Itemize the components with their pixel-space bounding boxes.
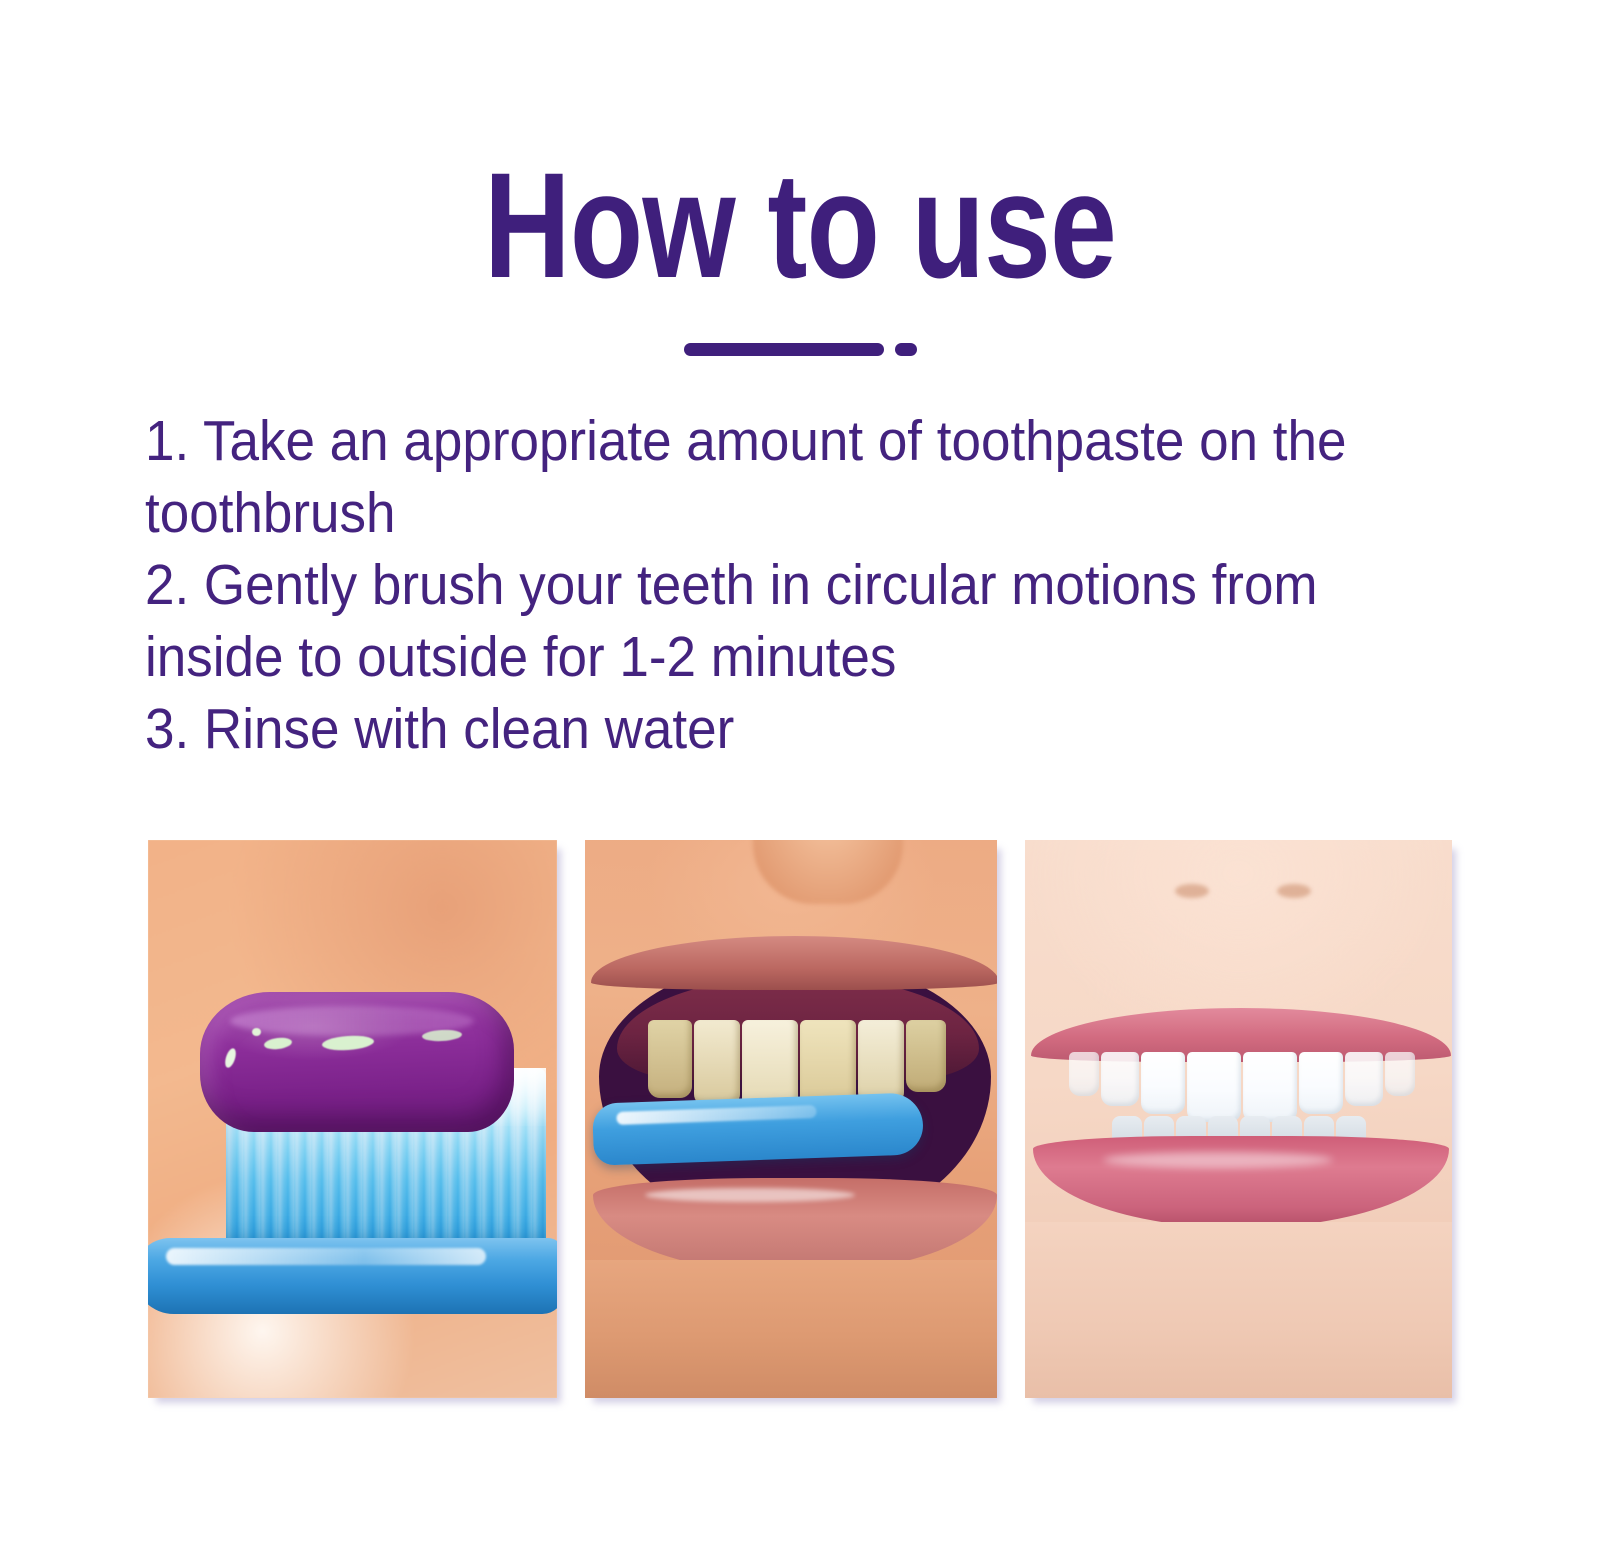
- chin: [1025, 1222, 1452, 1398]
- chin: [585, 1260, 996, 1398]
- lower-lip: [1033, 1136, 1449, 1228]
- white-smile-result-photo: [1025, 840, 1452, 1398]
- page-title: How to use: [160, 150, 1440, 300]
- tooth: [1069, 1052, 1099, 1096]
- brushing-stained-teeth-photo: [585, 840, 996, 1398]
- toothbrush-head: [148, 1238, 557, 1314]
- nostril: [1175, 884, 1209, 898]
- toothpaste-blob: [200, 992, 514, 1132]
- divider-long-bar: [684, 343, 884, 356]
- photo-strip: [148, 840, 1452, 1398]
- paste-highlight: [223, 1047, 238, 1069]
- instruction-line-4: inside to outside for 1-2 minutes: [145, 621, 1410, 693]
- instruction-line-1: 1. Take an appropriate amount of toothpa…: [145, 405, 1410, 477]
- divider-short-dash: [895, 343, 917, 356]
- instruction-line-5: 3. Rinse with clean water: [145, 693, 1410, 765]
- instruction-line-3: 2. Gently brush your teeth in circular m…: [145, 549, 1410, 621]
- tooth: [1345, 1052, 1383, 1106]
- title-divider: [0, 343, 1600, 356]
- nostril: [1277, 884, 1311, 898]
- photo-2-scene: [585, 840, 996, 1398]
- smiling-mouth: [1027, 1008, 1452, 1228]
- tooth: [906, 1020, 946, 1092]
- paste-highlight: [263, 1036, 292, 1050]
- instructions-block: 1. Take an appropriate amount of toothpa…: [145, 405, 1505, 765]
- tooth: [1385, 1052, 1415, 1096]
- photo-1-scene: [148, 840, 557, 1398]
- paste-highlight: [322, 1034, 375, 1052]
- toothbrush-head: [592, 1092, 924, 1165]
- tooth: [1243, 1052, 1297, 1122]
- tooth: [1101, 1052, 1139, 1106]
- paste-highlight: [252, 1028, 261, 1036]
- tooth: [1187, 1052, 1241, 1122]
- tooth: [694, 1020, 740, 1106]
- photo-3-scene: [1025, 840, 1452, 1398]
- tooth: [858, 1020, 904, 1104]
- tooth: [1141, 1052, 1185, 1114]
- tooth: [648, 1020, 692, 1098]
- tooth: [1299, 1052, 1343, 1114]
- toothpaste-on-toothbrush-photo: [148, 840, 557, 1398]
- instruction-line-2: toothbrush: [145, 477, 1410, 549]
- upper-teeth-row: [1055, 1052, 1429, 1124]
